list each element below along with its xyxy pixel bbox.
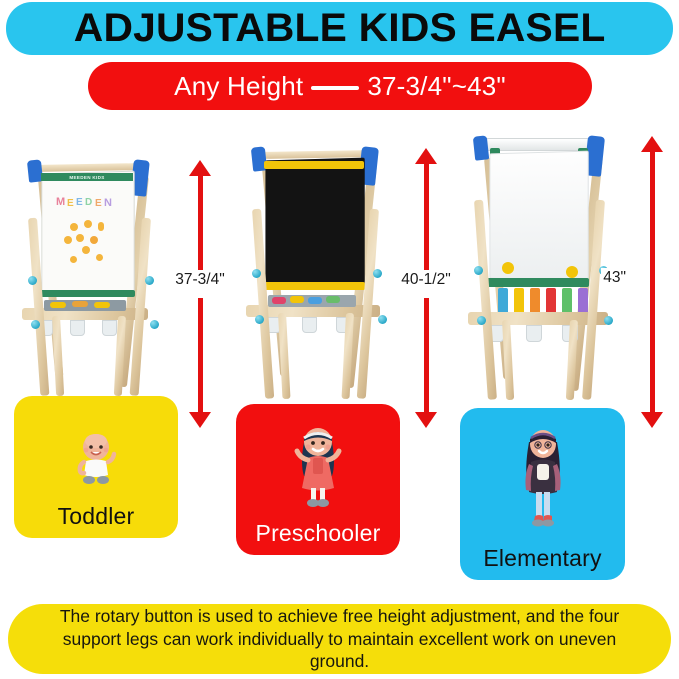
age-card-preschooler[interactable]: Preschooler [236,404,400,555]
magnet-letter: E [95,198,102,209]
infographic-page: ADJUSTABLE KIDS EASEL Any Height37-3/4"~… [0,0,679,679]
height-arrow-toddler: 37-3/4" [178,160,222,428]
arrow-head-up-icon [189,160,211,176]
arrow-head-down-icon [641,412,663,428]
age-card-label-preschooler: Preschooler [256,520,381,555]
age-card-label-elementary: Elementary [483,545,601,580]
arrow-head-up-icon [415,148,437,164]
easel-chalkboard-surface [265,158,364,289]
footer-text: The rotary button is used to achieve fre… [8,605,671,672]
baby-figure [73,430,119,492]
arrow-shaft-lower [424,298,429,412]
accessory-paint-tube [546,288,556,314]
age-card-toddler[interactable]: Toddler [14,396,178,538]
rotary-knob[interactable] [604,316,613,325]
page-title: ADJUSTABLE KIDS EASEL [74,6,606,51]
accessory-cup [526,325,542,342]
accessory-paint [72,301,88,307]
footer-banner: The rotary button is used to achieve fre… [8,604,671,674]
rotary-knob[interactable] [31,320,40,329]
magnet-letter: M [56,196,65,208]
easel-upper-trim [264,161,364,169]
easel-preschooler [236,137,402,401]
accessory-paint-tube [578,288,588,314]
height-label-toddler: 37-3/4" [173,270,226,290]
preschool-girl-figure [288,424,348,516]
easel-brand-label: MEEDEN KIDS [69,175,104,180]
arrow-head-down-icon [189,412,211,428]
arrow-head-down-icon [415,412,437,428]
age-card-label-toddler: Toddler [58,503,135,538]
rotary-knob[interactable] [252,269,261,278]
magnet-chip [70,256,77,263]
magnet-chip [64,236,72,244]
accessory-paint [94,302,110,308]
easel-support-leg-left [278,313,290,399]
subtitle-range: 37-3/4"~43" [367,71,505,101]
magnet-chip [90,236,98,244]
arrow-shaft-upper [198,175,203,273]
easel-elementary [458,126,628,402]
accessory-paint [326,296,340,303]
magnet-chip [82,246,90,254]
accessory-paint-tube [514,288,524,314]
easel-whiteboard-surface [41,171,134,296]
accessory-paint [290,296,304,303]
accessory-cup [102,320,117,336]
subtitle-prefix: Any Height [174,71,303,101]
easel-support-leg-left [502,320,514,400]
easel-toddler: MEEDEN KIDS M E E D E N [14,148,174,398]
arrow-shaft-lower [198,298,203,412]
height-label-elementary: 43" [601,268,628,288]
rotary-knob[interactable] [255,315,264,324]
easel-lower-trim [40,290,135,297]
rotary-knob[interactable] [474,266,483,275]
accessory-cup [70,320,85,336]
height-arrow-preschooler: 40-1/2" [404,148,448,428]
magnet-chip [70,223,78,231]
height-arrow-elementary: 43" [630,136,674,428]
magnet-letter: D [85,197,92,208]
magnet-chip [84,220,92,228]
dash-divider-icon [311,86,359,90]
arrow-shaft-lower [650,273,655,412]
arrow-shaft-upper [424,163,429,273]
magnet-chip [76,234,84,242]
magnet-chip [566,266,578,278]
accessory-cup [302,317,317,333]
easel-cap-left [473,135,489,160]
easel-lower-trim [486,278,589,287]
rotary-knob[interactable] [378,315,387,324]
accessory-paint [50,302,66,308]
height-label-preschooler: 40-1/2" [399,270,452,290]
easel-brand-strip: MEEDEN KIDS [41,173,133,181]
magnet-chip [98,222,104,231]
accessory-paint-tube [530,288,540,314]
age-card-elementary[interactable]: Elementary [460,408,625,580]
rotary-knob[interactable] [28,276,37,285]
easel-support-leg-left [52,316,64,396]
title-banner: ADJUSTABLE KIDS EASEL [6,2,673,55]
rotary-knob[interactable] [145,276,154,285]
rotary-knob[interactable] [373,269,382,278]
accessory-paint [308,297,322,304]
arrow-shaft-upper [650,151,655,273]
accessory-paint-tube [562,288,572,314]
subtitle-banner: Any Height37-3/4"~43" [88,62,592,110]
magnet-chip [502,262,514,274]
magnet-letter: E [76,197,83,208]
arrow-head-up-icon [641,136,663,152]
magnet-chip [96,254,103,261]
magnet-letter: E [67,198,74,209]
rotary-knob[interactable] [477,316,486,325]
magnet-letter: N [104,197,112,209]
elementary-girl-figure [513,426,573,536]
accessory-paint [272,297,286,304]
accessory-paint-tube [498,288,508,314]
subtitle-row: Any Height37-3/4"~43" [174,71,506,102]
rotary-knob[interactable] [150,320,159,329]
easel-lower-trim [264,282,365,290]
